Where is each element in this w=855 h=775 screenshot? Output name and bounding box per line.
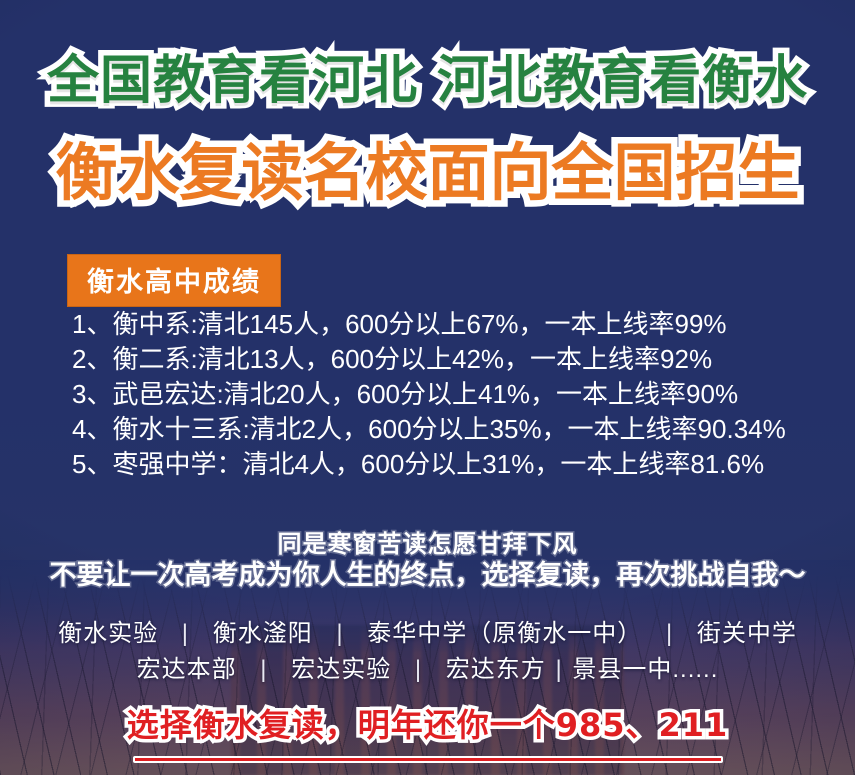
cta-text: 选择衡水复读，明年还你一个985、211 <box>0 700 855 746</box>
separator-icon: | <box>553 652 564 688</box>
poster-content: 全国教育看河北 河北教育看衡水 衡水复读名校面向全国招生 衡水高中成绩 1、衡中… <box>0 0 855 775</box>
school-name: 衡水实验 <box>58 620 158 647</box>
section-badge-achievements: 衡水高中成绩 <box>67 254 281 307</box>
school-name: 街关中学 <box>697 620 797 647</box>
list-item: 3、武邑宏达:清北20人，600分以上41%，一本上线率90% <box>72 377 835 412</box>
school-row: 宏达本部 | 宏达实验 | 宏达东方 | 景县一中...... <box>0 652 855 688</box>
list-item: 2、衡二系:清北13人，600分以上42%，一本上线率92% <box>72 342 835 377</box>
school-name: 泰华中学（原衡水一中） <box>367 620 642 647</box>
separator-icon: | <box>650 616 689 652</box>
school-name: 宏达实验 <box>291 656 391 683</box>
list-item: 5、枣强中学：清北4人，600分以上31%，一本上线率81.6% <box>72 447 835 482</box>
separator-icon: | <box>320 616 359 652</box>
separator-icon: | <box>399 652 438 688</box>
separator-icon: | <box>166 616 205 652</box>
school-name: 景县一中...... <box>572 656 718 683</box>
school-list: 衡水实验 | 衡水滏阳 | 泰华中学（原衡水一中） | 街关中学 宏达本部 | … <box>0 616 855 688</box>
school-name: 衡水滏阳 <box>213 620 313 647</box>
school-name: 宏达本部 <box>137 656 237 683</box>
list-item: 4、衡水十三系:清北2人，600分以上35%，一本上线率90.34% <box>72 412 835 447</box>
school-row: 衡水实验 | 衡水滏阳 | 泰华中学（原衡水一中） | 街关中学 <box>0 616 855 652</box>
list-item: 1、衡中系:清北145人，600分以上67%，一本上线率99% <box>72 307 835 342</box>
school-name: 宏达东方 <box>446 656 546 683</box>
headline-secondary: 衡水复读名校面向全国招生 <box>0 122 855 212</box>
poster-root: 全国教育看河北 河北教育看衡水 衡水复读名校面向全国招生 衡水高中成绩 1、衡中… <box>0 0 855 775</box>
cta-underline-rule <box>133 756 723 763</box>
slogan-line-2: 不要让一次高考成为你人生的终点，选择复读，再次挑战自我～ <box>0 553 855 592</box>
separator-icon: | <box>244 652 283 688</box>
headline-primary: 全国教育看河北 河北教育看衡水 <box>0 38 855 113</box>
achievements-list: 1、衡中系:清北145人，600分以上67%，一本上线率99% 2、衡二系:清北… <box>72 307 835 482</box>
